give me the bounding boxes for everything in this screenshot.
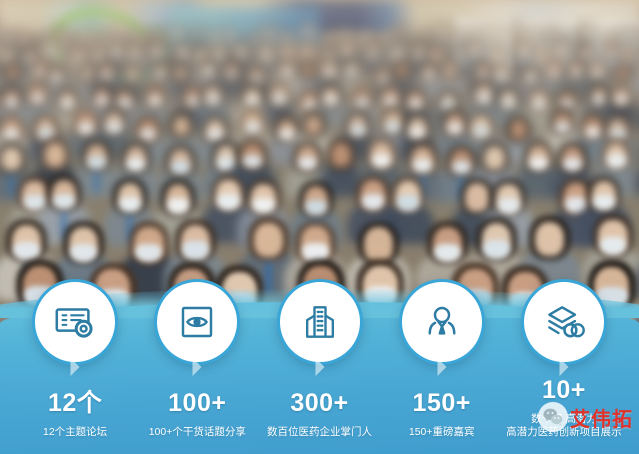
- badge-pointer: [559, 358, 568, 376]
- eye-in-square-icon: [176, 301, 218, 343]
- poster-frame: 12个 12个主题论坛 100+ 100+个干货话题分享: [0, 0, 639, 454]
- stat-number: 12个: [48, 391, 102, 416]
- stat-circle[interactable]: [277, 279, 363, 365]
- stat-badge[interactable]: [277, 279, 363, 365]
- stat-circle[interactable]: [399, 279, 485, 365]
- layers-coins-icon: [542, 300, 586, 344]
- stat-number: 100+: [168, 391, 226, 416]
- stat-caption: 100+个干货话题分享: [149, 426, 246, 439]
- stat-badge[interactable]: [32, 279, 118, 365]
- stat-caption-line-1: 数十家 高潜力: [531, 413, 597, 425]
- stat-caption-line-2: 高潜力医药创新项目展示: [506, 426, 622, 438]
- stat-circle[interactable]: [154, 279, 240, 365]
- stat-item-topics[interactable]: 100+ 100+个干货话题分享: [136, 279, 258, 448]
- stat-item-projects[interactable]: 10+ 数十家 高潜力 高潜力医药创新项目展示: [503, 279, 625, 448]
- stat-item-forums[interactable]: 12个 12个主题论坛: [14, 279, 136, 448]
- stat-circle[interactable]: [32, 279, 118, 365]
- stat-badge[interactable]: [521, 279, 607, 365]
- badge-pointer: [193, 358, 202, 376]
- stat-number: 10+: [542, 378, 586, 403]
- stat-item-guests[interactable]: 150+ 150+重磅嘉宾: [381, 279, 503, 448]
- badge-pointer: [71, 358, 80, 376]
- stat-caption: 150+重磅嘉宾: [409, 426, 475, 439]
- stat-badge[interactable]: [154, 279, 240, 365]
- stat-number: 300+: [290, 391, 348, 416]
- person-in-suit-icon: [421, 301, 463, 343]
- presentation-board-gear-icon: [52, 299, 98, 345]
- buildings-icon: [298, 300, 342, 344]
- badge-pointer: [437, 358, 446, 376]
- stat-caption: 12个主题论坛: [43, 426, 107, 439]
- stat-caption: 数百位医药企业掌门人: [267, 426, 372, 439]
- stat-number: 150+: [413, 391, 471, 416]
- stat-item-companies[interactable]: 300+ 数百位医药企业掌门人: [258, 279, 380, 448]
- stat-badge[interactable]: [399, 279, 485, 365]
- stats-row: 12个 12个主题论坛 100+ 100+个干货话题分享: [0, 279, 639, 454]
- stat-caption: 数十家 高潜力 高潜力医药创新项目展示: [505, 413, 623, 439]
- stat-circle[interactable]: [521, 279, 607, 365]
- badge-pointer: [315, 358, 324, 376]
